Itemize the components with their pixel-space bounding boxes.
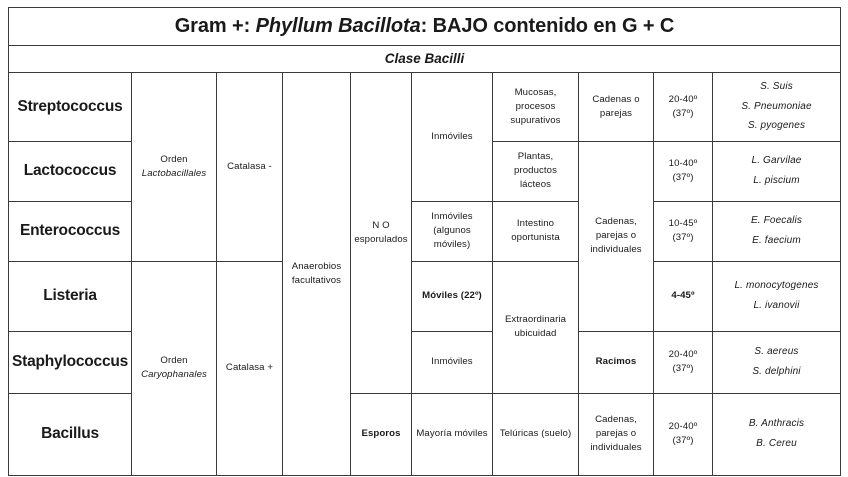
orden-caryophanales: Orden Caryophanales bbox=[132, 261, 217, 475]
species-item: L. monocytogenes bbox=[716, 279, 837, 294]
agrupacion-line2: parejas o bbox=[582, 427, 650, 441]
agrupacion-line2: parejas bbox=[582, 107, 650, 121]
title-italic: Phyllum Bacillota bbox=[256, 15, 421, 37]
temp-range: 20-40º bbox=[657, 420, 709, 434]
orden-value: Lactobacillales bbox=[135, 167, 213, 181]
agrupacion-line2: parejas o bbox=[582, 229, 650, 243]
genus-bacillus: Bacillus bbox=[9, 393, 132, 475]
habitat-line2: ubicuidad bbox=[496, 327, 575, 341]
esporulacion-no-esporulados: N O esporulados bbox=[351, 73, 412, 394]
temp-optimum: (37º) bbox=[657, 107, 709, 121]
genus-listeria: Listeria bbox=[9, 261, 132, 331]
orden-lactobacillales: Orden Lactobacillales bbox=[132, 73, 217, 262]
species-item: S. aereus bbox=[716, 345, 837, 360]
no-esporulados-line2: esporulados bbox=[354, 233, 408, 247]
species-item: B. Cereu bbox=[716, 437, 837, 452]
catalasa-negative: Catalasa - bbox=[217, 73, 283, 262]
habitat-line2: productos bbox=[496, 164, 575, 178]
page-title: Gram +: Phyllum Bacillota: BAJO contenid… bbox=[9, 8, 841, 46]
page-subtitle: Clase Bacilli bbox=[9, 46, 841, 73]
habitat-line3: lácteos bbox=[496, 178, 575, 192]
temperatura-staphylococcus: 20-40º (37º) bbox=[654, 331, 713, 393]
species-item: E. Foecalis bbox=[716, 214, 837, 229]
species-item: S. Pneumoniae bbox=[716, 100, 837, 115]
table-row: Streptococcus Orden Lactobacillales Cata… bbox=[9, 73, 841, 142]
especies-listeria: L. monocytogenes L. ivanovii bbox=[713, 261, 841, 331]
temperatura-lactococcus: 10-40º (37º) bbox=[654, 141, 713, 201]
temperatura-listeria: 4-45º bbox=[654, 261, 713, 331]
habitat-line1: Intestino bbox=[496, 217, 575, 231]
habitat-extraordinaria-ubicuidad: Extraordinaria ubicuidad bbox=[493, 261, 579, 393]
habitat-line1: Extraordinaria bbox=[496, 313, 575, 327]
bacillota-table: Gram +: Phyllum Bacillota: BAJO contenid… bbox=[8, 7, 841, 476]
habitat-line1: Mucosas, bbox=[496, 86, 575, 100]
habitat-line2: procesos bbox=[496, 100, 575, 114]
temp-range: 20-40º bbox=[657, 93, 709, 107]
genus-lactococcus: Lactococcus bbox=[9, 141, 132, 201]
especies-lactococcus: L. Garvilae L. piscium bbox=[713, 141, 841, 201]
metabolismo-anaerobios-facultativos: Anaerobios facultativos bbox=[283, 73, 351, 476]
agrupacion-line1: Cadenas, bbox=[582, 215, 650, 229]
habitat-line2: oportunista bbox=[496, 231, 575, 245]
especies-bacillus: B. Anthracis B. Cereu bbox=[713, 393, 841, 475]
agrupacion-cadenas-parejas-individuales: Cadenas, parejas o individuales bbox=[579, 141, 654, 331]
species-item: E. faecium bbox=[716, 234, 837, 249]
table-row: Listeria Orden Caryophanales Catalasa + … bbox=[9, 261, 841, 331]
anaerobios-line2: facultativos bbox=[286, 274, 347, 288]
genus-staphylococcus: Staphylococcus bbox=[9, 331, 132, 393]
table-page: Gram +: Phyllum Bacillota: BAJO contenid… bbox=[0, 0, 848, 477]
species-item: L. piscium bbox=[716, 174, 837, 189]
agrupacion-racimos: Racimos bbox=[579, 331, 654, 393]
temp-range: 10-45º bbox=[657, 217, 709, 231]
species-item: B. Anthracis bbox=[716, 417, 837, 432]
temperatura-enterococcus: 10-45º (37º) bbox=[654, 201, 713, 261]
species-item: S. Suis bbox=[716, 80, 837, 95]
motilidad-bacillus: Mayoría móviles bbox=[412, 393, 493, 475]
especies-staphylococcus: S. aereus S. delphini bbox=[713, 331, 841, 393]
temp-range: 10-40º bbox=[657, 157, 709, 171]
title-prefix: Gram +: bbox=[175, 15, 256, 37]
no-esporulados-line1: N O bbox=[354, 219, 408, 233]
esporulacion-esporos: Esporos bbox=[351, 393, 412, 475]
agrupacion-cadenas-parejas-individuales-2: Cadenas, parejas o individuales bbox=[579, 393, 654, 475]
genus-streptococcus: Streptococcus bbox=[9, 73, 132, 142]
agrupacion-line1: Cadenas o bbox=[582, 93, 650, 107]
temp-optimum: (37º) bbox=[657, 231, 709, 245]
motilidad-enterococcus: Inmóviles (algunos móviles) bbox=[412, 201, 493, 261]
agrupacion-line3: individuales bbox=[582, 243, 650, 257]
anaerobios-line1: Anaerobios bbox=[286, 260, 347, 274]
especies-enterococcus: E. Foecalis E. faecium bbox=[713, 201, 841, 261]
orden-label: Orden bbox=[135, 153, 213, 167]
agrupacion-cadenas-o-parejas: Cadenas o parejas bbox=[579, 73, 654, 142]
motilidad-line1: Inmóviles bbox=[415, 210, 489, 224]
catalasa-positive: Catalasa + bbox=[217, 261, 283, 475]
table-subtitle-row: Clase Bacilli bbox=[9, 46, 841, 73]
species-item: S. pyogenes bbox=[716, 119, 837, 134]
agrupacion-line1: Cadenas, bbox=[582, 413, 650, 427]
temp-optimum: (37º) bbox=[657, 362, 709, 376]
genus-enterococcus: Enterococcus bbox=[9, 201, 132, 261]
motilidad-listeria: Móviles (22º) bbox=[412, 261, 493, 331]
species-item: L. Garvilae bbox=[716, 154, 837, 169]
table-title-row: Gram +: Phyllum Bacillota: BAJO contenid… bbox=[9, 8, 841, 46]
habitat-streptococcus: Mucosas, procesos supurativos bbox=[493, 73, 579, 142]
species-item: S. delphini bbox=[716, 365, 837, 380]
title-suffix: : BAJO contenido en G + C bbox=[421, 15, 675, 37]
agrupacion-line3: individuales bbox=[582, 441, 650, 455]
temperatura-streptococcus: 20-40º (37º) bbox=[654, 73, 713, 142]
orden-label: Orden bbox=[135, 354, 213, 368]
temp-range: 20-40º bbox=[657, 348, 709, 362]
temp-optimum: (37º) bbox=[657, 171, 709, 185]
especies-streptococcus: S. Suis S. Pneumoniae S. pyogenes bbox=[713, 73, 841, 142]
habitat-bacillus: Telúricas (suelo) bbox=[493, 393, 579, 475]
motilidad-staphylococcus: Inmóviles bbox=[412, 331, 493, 393]
species-item: L. ivanovii bbox=[716, 299, 837, 314]
orden-value: Caryophanales bbox=[135, 368, 213, 382]
motilidad-line2: (algunos móviles) bbox=[415, 224, 489, 252]
habitat-enterococcus: Intestino oportunista bbox=[493, 201, 579, 261]
temp-optimum: (37º) bbox=[657, 434, 709, 448]
habitat-line1: Plantas, bbox=[496, 150, 575, 164]
temperatura-bacillus: 20-40º (37º) bbox=[654, 393, 713, 475]
habitat-lactococcus: Plantas, productos lácteos bbox=[493, 141, 579, 201]
motilidad-inmoviles-top: Inmóviles bbox=[412, 73, 493, 202]
habitat-line3: supurativos bbox=[496, 114, 575, 128]
